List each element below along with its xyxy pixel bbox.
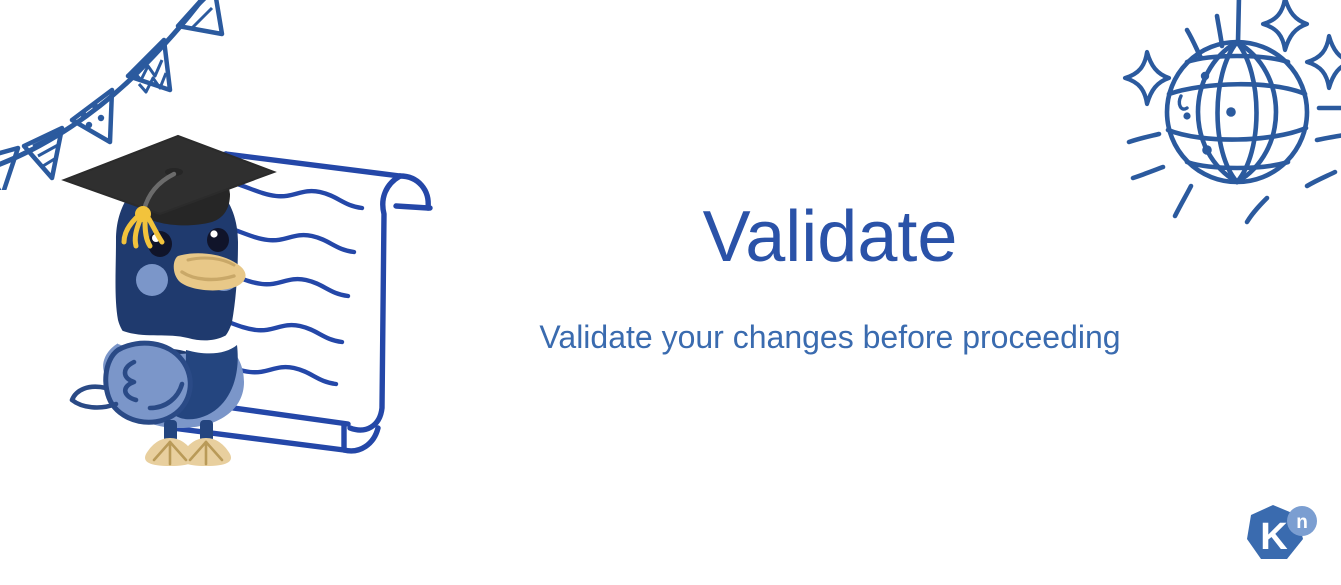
logo-letter-k: K <box>1260 516 1288 558</box>
logo-letter-n: n <box>1296 512 1308 533</box>
slide-text-block: Validate Validate your changes before pr… <box>470 200 1190 356</box>
page-title: Validate <box>470 200 1190 276</box>
page-subtitle: Validate your changes before proceeding <box>470 318 1190 356</box>
slide-canvas: Validate Validate your changes before pr… <box>0 0 1341 585</box>
killercoda-logo[interactable]: K n <box>1243 501 1319 571</box>
bird-wing <box>106 343 191 422</box>
bird-feet <box>145 438 231 466</box>
bird-cheek-left <box>136 264 168 296</box>
graduate-bird-mascot <box>48 132 468 477</box>
